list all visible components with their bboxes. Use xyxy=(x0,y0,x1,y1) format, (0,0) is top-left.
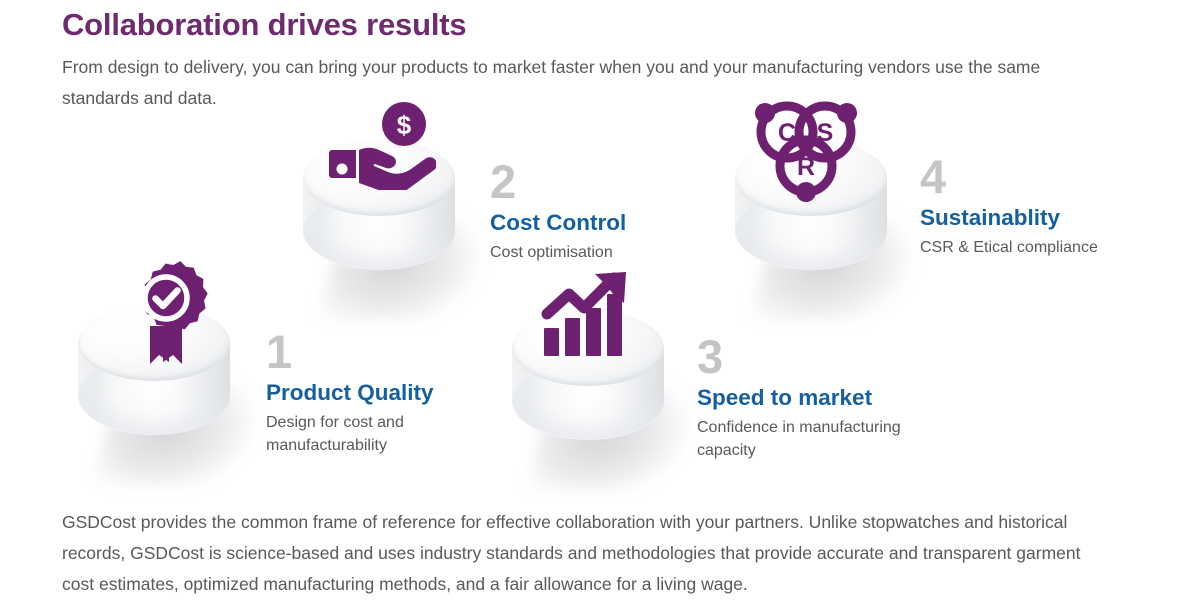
step-description: CSR & Etical compliance xyxy=(920,237,1180,260)
steps-group: 1 Product Quality Design for cost and ma… xyxy=(0,0,1200,500)
step-description: Design for cost and manufacturability xyxy=(266,412,506,457)
step-title: Cost Control xyxy=(490,208,720,238)
footer-paragraph: GSDCost provides the common frame of ref… xyxy=(62,507,1117,600)
podium-top xyxy=(78,305,230,381)
step-description: Cost optimisation xyxy=(490,242,720,265)
step-text-4: 4 Sustainablity CSR & Etical compliance xyxy=(920,153,1180,260)
step-text-3: 3 Speed to market Confidence in manufact… xyxy=(697,333,947,462)
podium-cylinder-4 xyxy=(735,140,887,308)
step-number: 4 xyxy=(920,153,1180,201)
step-text-1: 1 Product Quality Design for cost and ma… xyxy=(266,328,506,457)
podium-top xyxy=(303,140,455,216)
step-description: Confidence in manufacturing capacity xyxy=(697,417,947,462)
podium-top xyxy=(735,140,887,216)
step-title: Speed to market xyxy=(697,383,947,413)
step-number: 2 xyxy=(490,158,720,206)
step-title: Sustainablity xyxy=(920,203,1180,233)
step-text-2: 2 Cost Control Cost optimisation xyxy=(490,158,720,265)
step-number: 3 xyxy=(697,333,947,381)
podium-top xyxy=(512,310,664,386)
podium-cylinder-3 xyxy=(512,310,664,478)
step-title: Product Quality xyxy=(266,378,506,408)
infographic-page: Collaboration drives results From design… xyxy=(0,0,1200,611)
podium-cylinder-1 xyxy=(78,305,230,473)
svg-text:$: $ xyxy=(397,110,412,140)
step-number: 1 xyxy=(266,328,506,376)
podium-cylinder-2 xyxy=(303,140,455,308)
